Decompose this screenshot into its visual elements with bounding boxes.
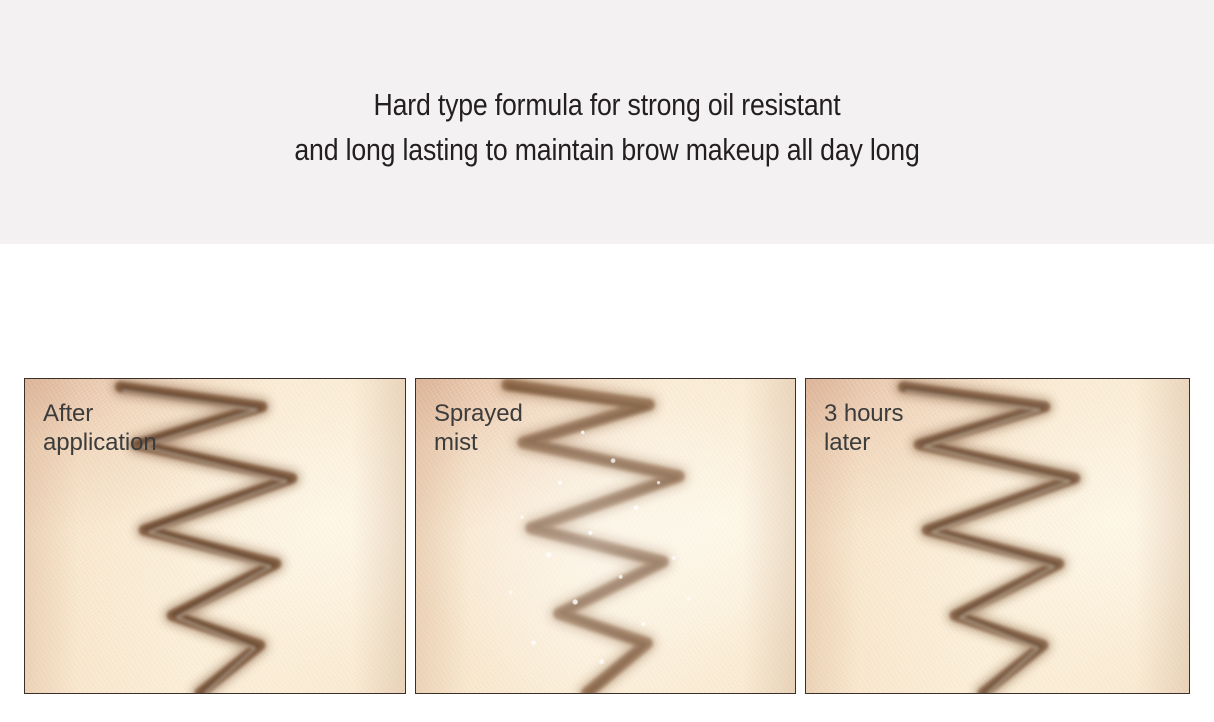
swatch-comparison-row: After application Spraye [24, 378, 1190, 694]
headline-line-2: and long lasting to maintain brow makeup… [85, 127, 1129, 172]
panel-caption-three-hours-later: 3 hours later [824, 399, 903, 457]
page-headline: Hard type formula for strong oil resista… [85, 82, 1129, 172]
panel-caption-sprayed-mist: Sprayed mist [434, 399, 523, 457]
swatch-panel-sprayed-mist: Sprayed mist [415, 378, 796, 694]
headline-line-1: Hard type formula for strong oil resista… [85, 82, 1129, 127]
swatch-panel-three-hours-later: 3 hours later [805, 378, 1190, 694]
swatch-panel-after-application: After application [24, 378, 406, 694]
headline-banner: Hard type formula for strong oil resista… [0, 0, 1214, 244]
panel-caption-after-application: After application [43, 399, 157, 457]
